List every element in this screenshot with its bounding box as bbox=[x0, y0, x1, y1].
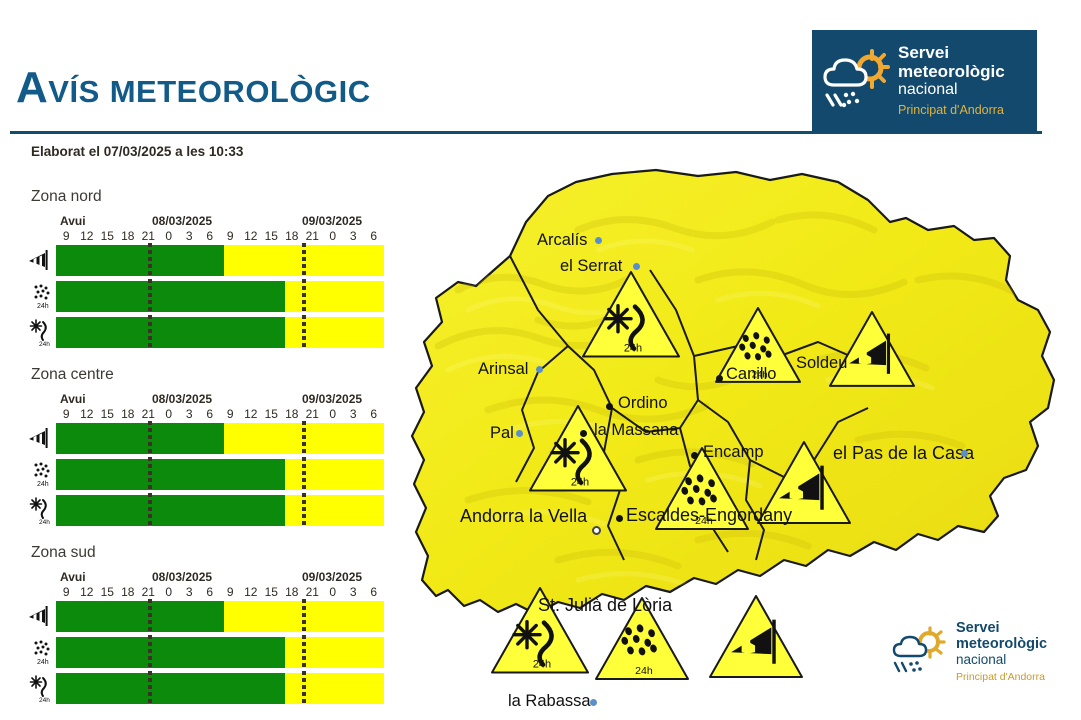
hour-label: 9 bbox=[56, 407, 77, 421]
snow-shower-24h-icon: 24h bbox=[28, 281, 54, 312]
hour-label: 21 bbox=[302, 229, 323, 243]
hazard-row-glaçada: 24h bbox=[0, 317, 400, 348]
snowflake-icon bbox=[514, 622, 540, 648]
day-divider bbox=[148, 671, 152, 706]
hour-label: 21 bbox=[302, 585, 323, 599]
severity-segment-green bbox=[56, 495, 285, 526]
snow-shower-24h-icon: 24h bbox=[28, 459, 54, 490]
place-marker-dot bbox=[592, 526, 601, 535]
sun-cloud-icon-small bbox=[888, 623, 950, 681]
day-divider bbox=[302, 315, 306, 350]
place-label: Arinsal bbox=[478, 360, 528, 379]
day-label: 08/03/2025 bbox=[152, 214, 212, 228]
severity-segment-green bbox=[56, 601, 224, 632]
svg-text:24h: 24h bbox=[37, 303, 49, 310]
hazard-row-list: 24h 24h bbox=[0, 245, 400, 353]
severity-timeline-bar bbox=[56, 495, 384, 526]
hour-label: 21 bbox=[302, 407, 323, 421]
hour-label: 6 bbox=[200, 585, 221, 599]
severity-segment-green bbox=[56, 423, 224, 454]
day-divider bbox=[302, 493, 306, 528]
place-label: el Pas de la Casa bbox=[833, 443, 974, 464]
warning-duration-label: 24h bbox=[624, 342, 642, 354]
svg-text:24h: 24h bbox=[39, 519, 50, 526]
page-title: AVÍS METEOROLÒGIC bbox=[16, 63, 371, 113]
day-label: 09/03/2025 bbox=[302, 570, 362, 584]
place-marker-dot bbox=[516, 430, 523, 437]
day-divider bbox=[302, 243, 306, 278]
day-label: Avui bbox=[60, 392, 86, 406]
hour-label: 15 bbox=[97, 407, 118, 421]
place-label: Pal bbox=[490, 424, 514, 443]
sun-cloud-icon bbox=[818, 45, 896, 117]
hour-label: 3 bbox=[179, 585, 200, 599]
zone-title: Zona centre bbox=[31, 366, 114, 384]
day-divider bbox=[148, 315, 152, 350]
place-marker-dot bbox=[595, 237, 602, 244]
hour-label: 0 bbox=[159, 407, 180, 421]
severity-timeline-bar bbox=[56, 317, 384, 348]
brand-line-4: Principat d'Andorra bbox=[898, 104, 1005, 118]
snow-shower-24h-icon: 24h bbox=[28, 637, 54, 668]
severity-segment-green bbox=[56, 245, 224, 276]
severity-segment-green bbox=[56, 281, 285, 312]
place-marker-dot bbox=[590, 699, 597, 706]
place-label: Encamp bbox=[703, 443, 764, 462]
day-divider bbox=[302, 457, 306, 492]
day-divider bbox=[302, 279, 306, 314]
place-marker-dot bbox=[606, 403, 613, 410]
day-divider bbox=[148, 243, 152, 278]
svg-text:24h: 24h bbox=[37, 659, 49, 666]
hour-label: 6 bbox=[364, 407, 385, 421]
hour-label-row: 912151821036912151821036 bbox=[46, 407, 386, 422]
hour-label: 0 bbox=[323, 585, 344, 599]
svg-text:24h: 24h bbox=[39, 697, 50, 704]
hazard-row-vent bbox=[0, 245, 400, 276]
day-divider bbox=[148, 279, 152, 314]
day-label-row: Avui08/03/202509/03/2025 bbox=[52, 570, 384, 585]
hour-label: 3 bbox=[343, 229, 364, 243]
hour-label: 9 bbox=[220, 585, 241, 599]
place-label: la Rabassa bbox=[508, 692, 591, 711]
warning-duration-label: 24h bbox=[635, 665, 653, 677]
hour-label: 6 bbox=[200, 229, 221, 243]
footer-brand-line-1: Servei bbox=[956, 621, 1047, 637]
day-divider bbox=[148, 599, 152, 634]
hour-label: 18 bbox=[282, 585, 303, 599]
footer-brand-line-4: Principat d'Andorra bbox=[956, 672, 1047, 684]
severity-timeline-bar bbox=[56, 637, 384, 668]
hour-label: 9 bbox=[220, 407, 241, 421]
issued-date: Elaborat el 07/03/2025 a les 10:33 bbox=[31, 144, 243, 159]
footer-logo: Servei meteorològic nacional Principat d… bbox=[888, 608, 1070, 696]
brand-line-1: Servei bbox=[898, 44, 1005, 62]
hour-label: 15 bbox=[261, 585, 282, 599]
place-marker-dot bbox=[633, 263, 640, 270]
hour-label: 12 bbox=[77, 585, 98, 599]
hour-label: 21 bbox=[138, 585, 159, 599]
severity-timeline-bar bbox=[56, 281, 384, 312]
severity-segment-green bbox=[56, 637, 285, 668]
severity-segment-green bbox=[56, 459, 285, 490]
hour-label: 3 bbox=[179, 229, 200, 243]
day-label-row: Avui08/03/202509/03/2025 bbox=[52, 392, 384, 407]
severity-timeline-bar bbox=[56, 673, 384, 704]
place-marker-dot bbox=[536, 366, 543, 373]
wind-sock-icon bbox=[28, 601, 54, 632]
severity-timeline-bar bbox=[56, 245, 384, 276]
place-label: Soldeu bbox=[796, 354, 847, 373]
snow-frost-24h-icon: 24h bbox=[28, 317, 54, 348]
hour-label: 9 bbox=[220, 229, 241, 243]
brand-logo: Servei meteorològic nacional Principat d… bbox=[812, 30, 1037, 132]
hazard-row-neu: 24h bbox=[0, 459, 400, 490]
hazard-row-vent bbox=[0, 601, 400, 632]
day-divider bbox=[302, 421, 306, 456]
snowflake-icon bbox=[552, 440, 578, 466]
day-label: 09/03/2025 bbox=[302, 214, 362, 228]
brand-line-3: nacional bbox=[898, 81, 1005, 98]
hour-label: 0 bbox=[159, 585, 180, 599]
hazard-row-list: 24h 24h bbox=[0, 423, 400, 531]
hazard-row-neu: 24h bbox=[0, 637, 400, 668]
footer-brand-line-3: nacional bbox=[956, 653, 1047, 668]
hour-label: 18 bbox=[118, 407, 139, 421]
place-label: Ordino bbox=[618, 394, 668, 413]
hour-label-row: 912151821036912151821036 bbox=[46, 229, 386, 244]
day-divider bbox=[148, 457, 152, 492]
severity-segment-green bbox=[56, 317, 285, 348]
place-marker-dot bbox=[716, 375, 723, 382]
severity-timeline-bar bbox=[56, 423, 384, 454]
hour-label: 9 bbox=[56, 585, 77, 599]
warning-duration-label: 24h bbox=[533, 658, 551, 670]
place-label: la Massana bbox=[594, 421, 678, 440]
hour-label: 12 bbox=[241, 585, 262, 599]
hour-label: 15 bbox=[97, 229, 118, 243]
day-label: 08/03/2025 bbox=[152, 392, 212, 406]
hour-label: 21 bbox=[138, 229, 159, 243]
zone-title: Zona nord bbox=[31, 188, 102, 206]
place-label: el Serrat bbox=[560, 257, 622, 276]
day-label: 08/03/2025 bbox=[152, 570, 212, 584]
hazard-row-list: 24h 24h bbox=[0, 601, 400, 709]
day-divider bbox=[302, 635, 306, 670]
brand-line-2: meteorològic bbox=[898, 63, 1005, 81]
place-marker-dot bbox=[580, 430, 587, 437]
place-label: Arcalís bbox=[537, 231, 587, 250]
day-divider bbox=[148, 421, 152, 456]
hazard-row-glaçada: 24h bbox=[0, 673, 400, 704]
place-label: St. Julià de Lòria bbox=[538, 595, 672, 616]
hour-label: 3 bbox=[179, 407, 200, 421]
day-label-row: Avui08/03/202509/03/2025 bbox=[52, 214, 384, 229]
day-label: 09/03/2025 bbox=[302, 392, 362, 406]
day-divider bbox=[148, 635, 152, 670]
severity-segment-green bbox=[56, 673, 285, 704]
hour-label: 6 bbox=[200, 407, 221, 421]
place-marker-dot bbox=[691, 452, 698, 459]
day-label: Avui bbox=[60, 570, 86, 584]
hour-label: 6 bbox=[364, 585, 385, 599]
severity-timeline-bar bbox=[56, 459, 384, 490]
severity-timeline-bar bbox=[56, 601, 384, 632]
wind-sock-icon bbox=[28, 245, 54, 276]
place-marker-dot bbox=[616, 515, 623, 522]
hour-label: 21 bbox=[138, 407, 159, 421]
wind-sock-icon bbox=[28, 423, 54, 454]
hour-label: 15 bbox=[261, 229, 282, 243]
footer-brand-line-2: meteorològic bbox=[956, 637, 1047, 653]
hour-label: 18 bbox=[282, 407, 303, 421]
hour-label: 0 bbox=[323, 407, 344, 421]
map-landmass bbox=[412, 170, 1054, 614]
place-label: Canillo bbox=[726, 365, 776, 384]
svg-text:24h: 24h bbox=[39, 341, 50, 348]
place-label: Andorra la Vella bbox=[460, 506, 587, 527]
place-label: Escaldes-Engordany bbox=[626, 505, 792, 526]
day-divider bbox=[148, 493, 152, 528]
day-divider bbox=[302, 671, 306, 706]
place-marker-dot bbox=[961, 450, 968, 457]
zone-title: Zona sud bbox=[31, 544, 96, 562]
svg-text:24h: 24h bbox=[37, 481, 49, 488]
hour-label: 6 bbox=[364, 229, 385, 243]
hazard-row-glaçada: 24h bbox=[0, 495, 400, 526]
hazard-row-neu: 24h bbox=[0, 281, 400, 312]
page-title-initial: A bbox=[16, 63, 48, 112]
snowflake-icon bbox=[605, 306, 631, 332]
hour-label: 12 bbox=[77, 407, 98, 421]
hour-label-row: 912151821036912151821036 bbox=[46, 585, 386, 600]
snow-frost-24h-icon: 24h bbox=[28, 495, 54, 526]
hour-label: 18 bbox=[118, 585, 139, 599]
hour-label: 3 bbox=[343, 407, 364, 421]
hour-label: 12 bbox=[241, 407, 262, 421]
hour-label: 15 bbox=[261, 407, 282, 421]
hour-label: 3 bbox=[343, 585, 364, 599]
hour-label: 18 bbox=[118, 229, 139, 243]
hour-label: 12 bbox=[241, 229, 262, 243]
day-divider bbox=[302, 599, 306, 634]
page-title-word1: VÍS bbox=[48, 74, 99, 109]
snow-frost-24h-icon: 24h bbox=[28, 673, 54, 704]
page-title-word2: METEOROLÒGIC bbox=[110, 74, 371, 109]
warning-triangle-wind bbox=[710, 596, 802, 677]
hour-label: 0 bbox=[323, 229, 344, 243]
hour-label: 15 bbox=[97, 585, 118, 599]
hour-label: 9 bbox=[56, 229, 77, 243]
hazard-row-vent bbox=[0, 423, 400, 454]
hour-label: 12 bbox=[77, 229, 98, 243]
day-label: Avui bbox=[60, 214, 86, 228]
hour-label: 0 bbox=[159, 229, 180, 243]
hour-label: 18 bbox=[282, 229, 303, 243]
warning-duration-label: 24h bbox=[571, 476, 589, 488]
